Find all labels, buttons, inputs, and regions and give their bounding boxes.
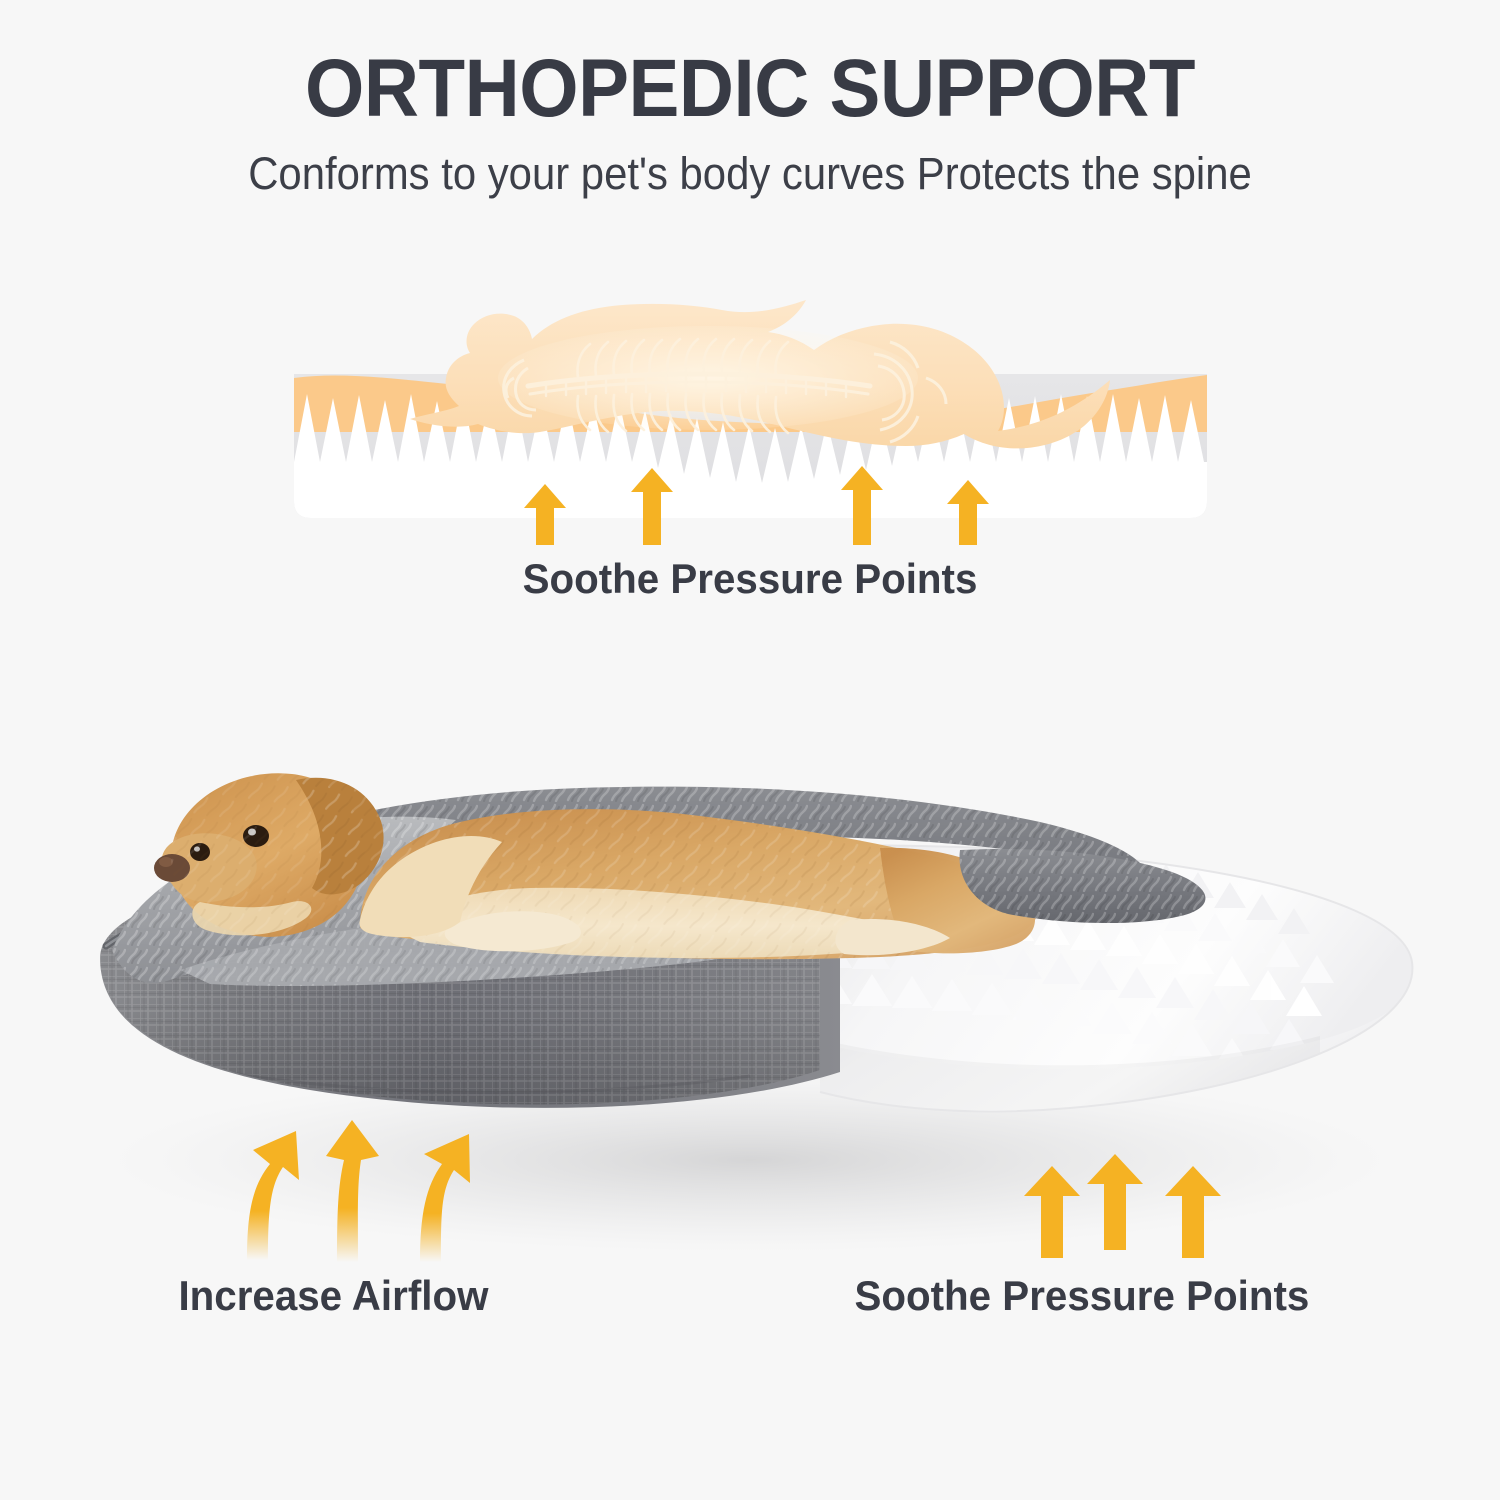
dog-in-orthopedic-bed-photo [60, 640, 1460, 1280]
skeleton-glow [498, 326, 918, 430]
page-title: ORTHOPEDIC SUPPORT [53, 48, 1448, 130]
annotation-label-airflow: Increase Airflow [178, 1272, 488, 1320]
diagram-caption-pressure-points: Soothe Pressure Points [30, 555, 1470, 603]
infographic-canvas: ORTHOPEDIC SUPPORT Conforms to your pet'… [0, 0, 1500, 1500]
annotation-label-pressure: Soothe Pressure Points [854, 1272, 1309, 1320]
foam-cross-section-diagram [278, 282, 1223, 532]
page-subtitle: Conforms to your pet's body curves Prote… [53, 148, 1448, 200]
bed-drop-shadow [110, 1068, 1390, 1252]
